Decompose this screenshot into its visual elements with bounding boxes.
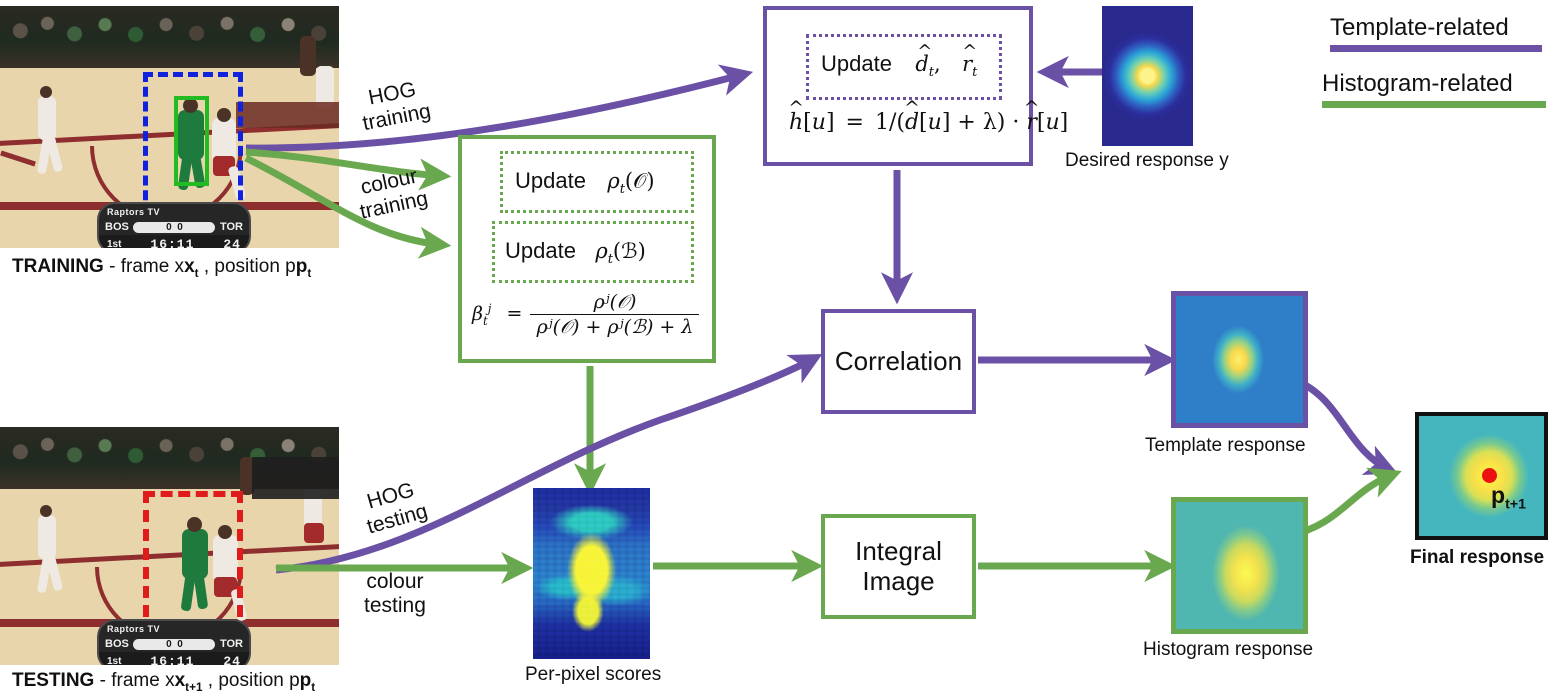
histogram-update-fg-expression: Update ρt(𝒪) [515, 168, 655, 197]
training-caption: TRAINING - frame xxt , position ppt [12, 256, 311, 280]
scorebug-period-2: 1st [107, 656, 121, 666]
beta-fraction: ρʲ(𝒪) ρʲ(𝒪) + ρʲ(ℬ) + λ [530, 291, 699, 338]
desired-response-image [1102, 6, 1193, 146]
scorebug-team-home-2: TOR [220, 638, 243, 650]
testing-scorebug: Raptors TV BOS 0 0 TOR 1st 16:11 24 [97, 619, 251, 665]
scorebug-score-row: BOS 0 0 TOR [99, 219, 249, 235]
scorebug-team-home: TOR [220, 221, 243, 233]
scorebug-broadcaster-row-2: Raptors TV [99, 621, 249, 636]
desired-response-caption: Desired response y [1065, 150, 1229, 172]
legend-item-template: Template-related [1330, 14, 1542, 52]
training-video-frame: Raptors TV BOS 0 0 TOR 1st 16:11 24 [0, 6, 339, 248]
scorebug-clock-2: 16:11 [150, 654, 194, 666]
scorebug-broadcaster: Raptors TV [107, 207, 160, 217]
template-response-image [1171, 291, 1308, 428]
player-far-right-shorts-b [304, 523, 324, 543]
template-response-caption: Template response [1145, 435, 1306, 457]
scorebug-clock: 16:11 [150, 237, 194, 249]
template-filter-formula: ^h[u] = 1/(^d[u] + λ) · ^r[u] [789, 110, 1068, 135]
player-white-left-head-b [40, 505, 52, 517]
testing-video-frame: Raptors TV BOS 0 0 TOR 1st 16:11 24 [0, 427, 339, 665]
template-update-inner: Update ^dt, ^rt [806, 34, 1002, 100]
histogram-update-fg-inner: Update ρt(𝒪) [500, 151, 694, 213]
d-hat-t: ^dt [915, 52, 934, 80]
player-white-left-head [40, 86, 52, 98]
histogram-update-bg-inner: Update ρt(ℬ) [492, 221, 694, 283]
courtside-bench [236, 102, 339, 128]
beta-denominator: ρʲ(𝒪) + ρʲ(ℬ) + λ [530, 314, 699, 338]
scorebug-team-away: BOS [105, 221, 129, 233]
final-response-point-label: pt+1 [1491, 482, 1526, 513]
scorebug-score: 0 0 [133, 222, 215, 233]
histogram-update-fg-label: Update [515, 168, 586, 193]
scorebug-clock-row-2: 1st 16:11 24 [99, 652, 249, 665]
beta-symbol: βtj [472, 303, 491, 325]
testing-search-bbox [143, 491, 243, 636]
template-update-box[interactable]: Update ^dt, ^rt ^h[u] = 1/(^d[u] + λ) · … [763, 6, 1033, 166]
diagram-canvas: Raptors TV BOS 0 0 TOR 1st 16:11 24 TRAI… [0, 0, 1555, 696]
histogram-response-image [1171, 497, 1308, 634]
testing-caption: TESTING - frame xxt+1 , position ppt [12, 670, 315, 694]
legend-item-histogram: Histogram-related [1322, 70, 1546, 108]
scorebug-clock-row: 1st 16:11 24 [99, 235, 249, 248]
rho-t-B: ρt(ℬ) [595, 239, 646, 263]
histogram-update-bg-expression: Update ρt(ℬ) [505, 238, 646, 267]
per-pixel-scores-image [533, 488, 650, 659]
histogram-update-bg-label: Update [505, 238, 576, 263]
player-white-left [38, 96, 56, 140]
histogram-response-caption: Histogram response [1143, 639, 1313, 661]
histogram-beta-formula: βtj = ρʲ(𝒪) ρʲ(𝒪) + ρʲ(ℬ) + λ [472, 291, 701, 338]
integral-image-box[interactable]: IntegralImage [821, 514, 976, 619]
correlation-label: Correlation [835, 347, 962, 377]
scorebug-broadcaster-2: Raptors TV [107, 624, 160, 634]
beta-equals: = [506, 303, 522, 325]
scorebug-period: 1st [107, 239, 121, 249]
legend-label-histogram: Histogram-related [1322, 70, 1546, 98]
legend-rule-template [1330, 45, 1542, 52]
template-update-expression: Update ^dt, ^rt [821, 51, 977, 80]
per-pixel-scores-caption: Per-pixel scores [525, 664, 661, 686]
label-colour-training: colourtraining [353, 163, 430, 223]
legend-rule-histogram [1322, 101, 1546, 108]
scorebug-score-row-2: BOS 0 0 TOR [99, 636, 249, 652]
scorebug-shot-clock: 24 [223, 237, 241, 249]
template-update-label: Update [821, 51, 892, 76]
r-hat-t: ^rt [962, 52, 977, 80]
scorebug-score-2: 0 0 [133, 639, 215, 650]
correlation-box[interactable]: Correlation [821, 309, 976, 414]
rho-t-O: ρt(𝒪) [607, 169, 654, 193]
training-target-bbox [174, 96, 209, 186]
scorebug-broadcaster-row: Raptors TV [99, 204, 249, 219]
final-response-peak-point [1482, 468, 1497, 483]
legend-label-template: Template-related [1330, 14, 1542, 42]
label-hog-testing: HOGtesting [358, 476, 430, 538]
histogram-update-box[interactable]: Update ρt(𝒪) Update ρt(ℬ) βtj = ρʲ(𝒪) ρʲ… [458, 135, 716, 363]
final-response-image: pt+1 [1415, 412, 1548, 540]
label-hog-training: HOGtraining [356, 76, 433, 135]
player-white-left-b [38, 515, 56, 559]
scorebug-shot-clock-2: 24 [223, 654, 241, 666]
label-colour-testing: colourtesting [364, 570, 426, 617]
final-response-caption: Final response [1410, 547, 1544, 569]
training-crowd [0, 6, 339, 68]
integral-image-label: IntegralImage [855, 537, 942, 597]
courtside-signage-b [252, 457, 339, 499]
beta-numerator: ρʲ(𝒪) [530, 291, 699, 314]
scorebug-team-away-2: BOS [105, 638, 129, 650]
training-scorebug: Raptors TV BOS 0 0 TOR 1st 16:11 24 [97, 202, 251, 248]
player-far-right [300, 36, 316, 76]
